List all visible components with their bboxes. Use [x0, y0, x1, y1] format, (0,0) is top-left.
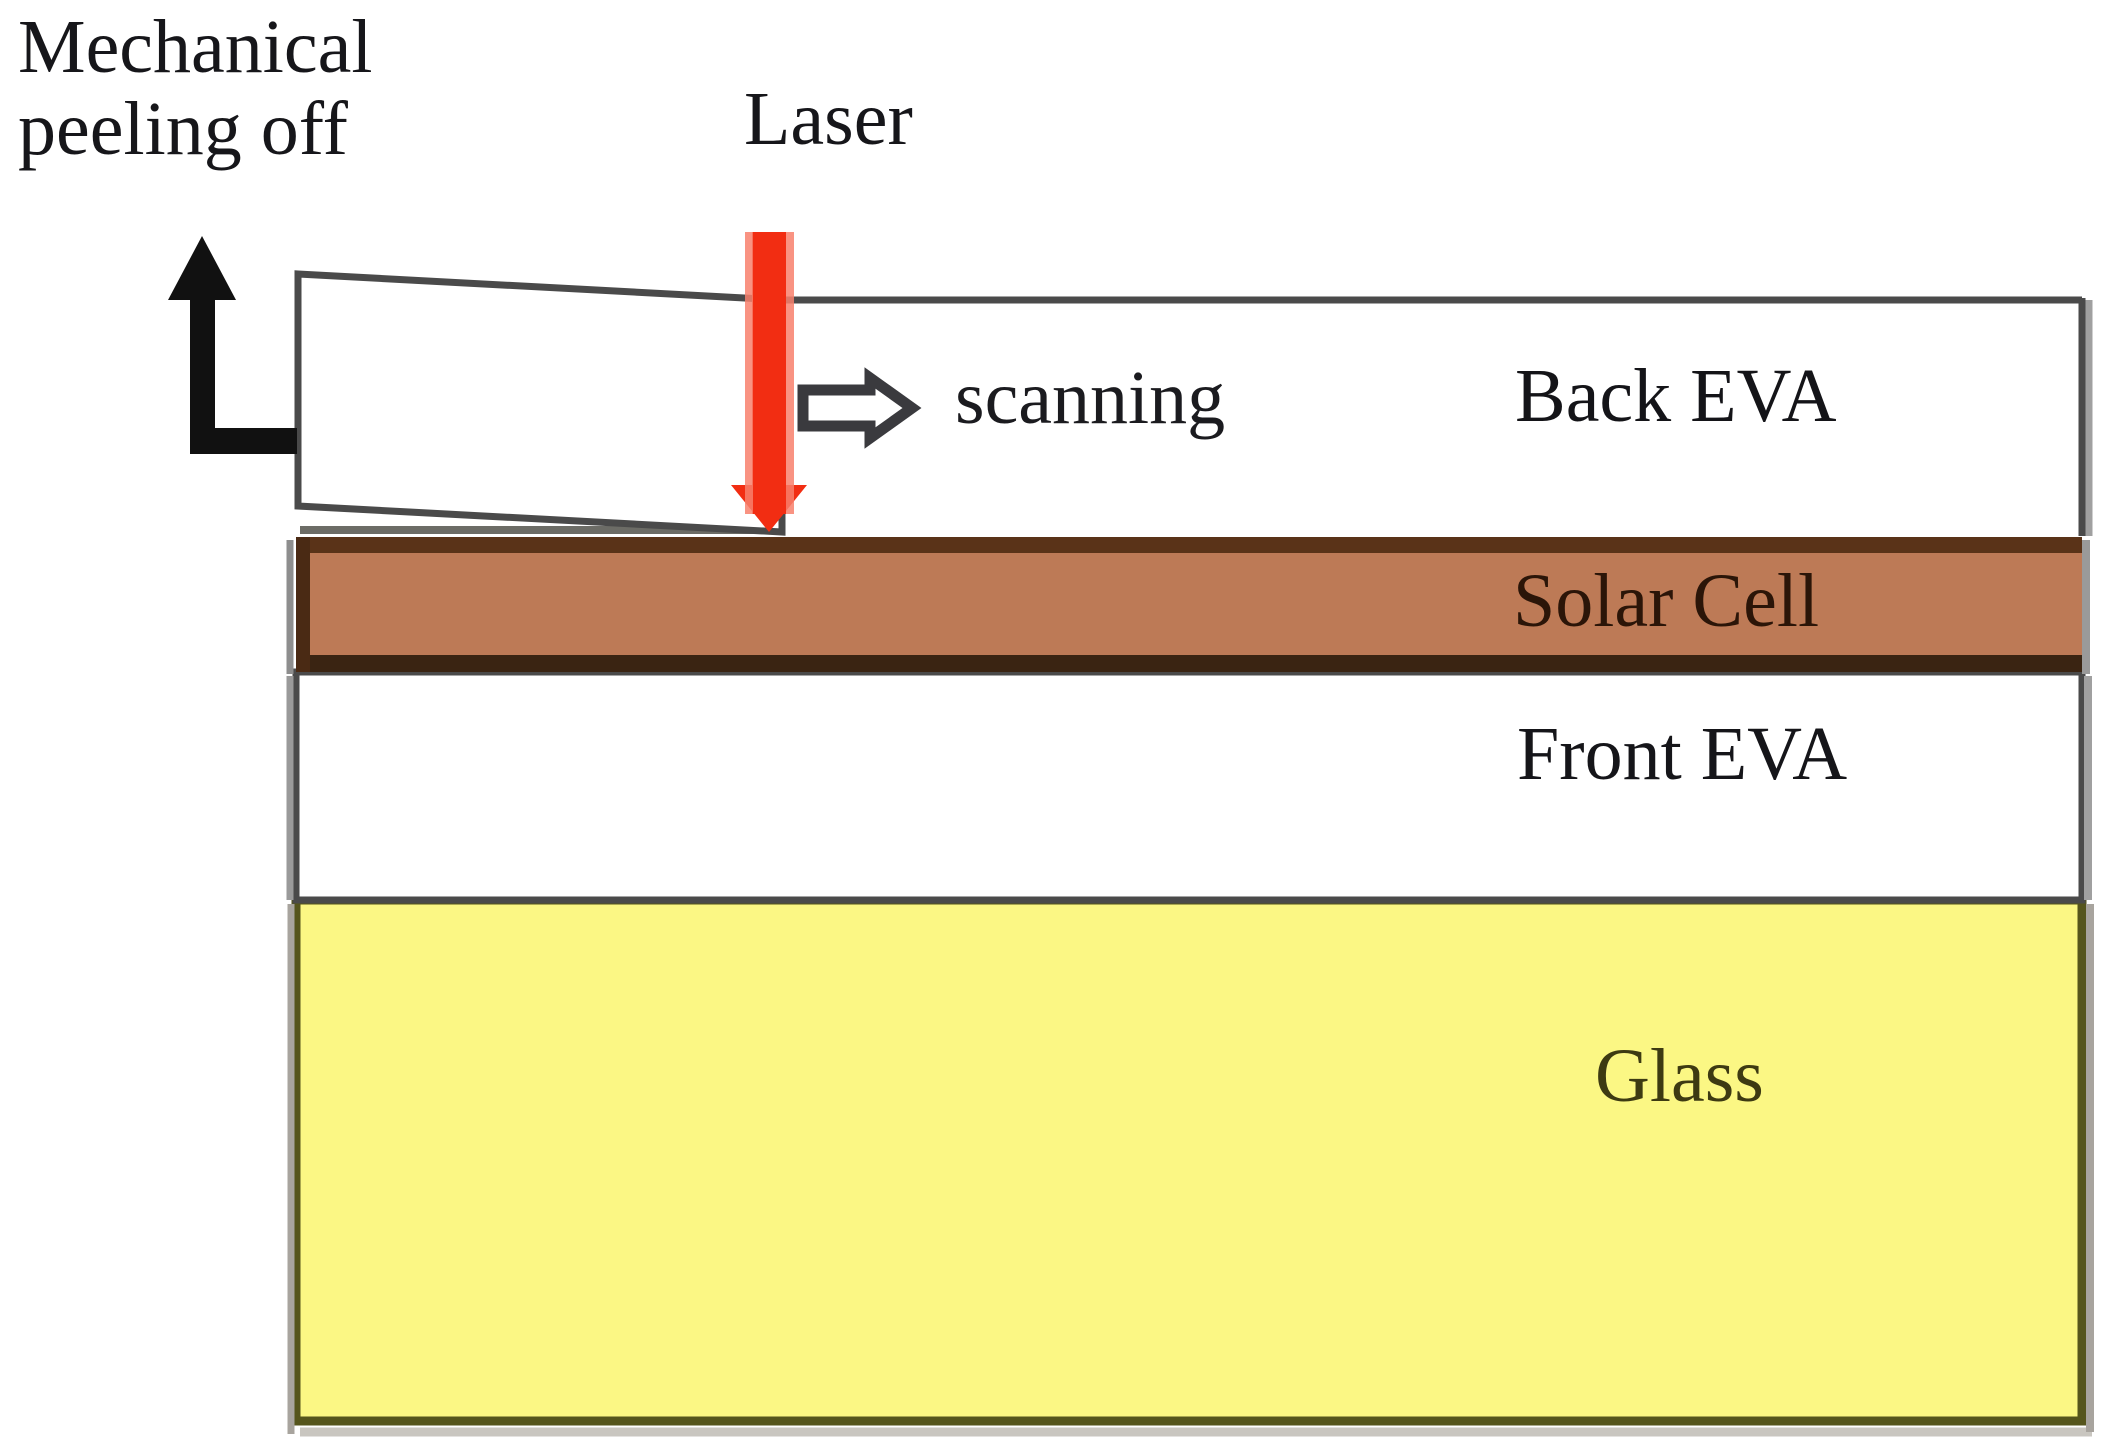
- peeling-arrow-up-icon: [168, 236, 297, 454]
- front-eva-label: Front EVA: [1517, 713, 1847, 795]
- laser-glow-left: [745, 232, 753, 514]
- solar-cell-label: Solar Cell: [1513, 560, 1819, 642]
- mechanical-peeling-line2: peeling off: [18, 87, 348, 171]
- solar-cell-left-edge: [296, 537, 310, 672]
- solar-cell-top-edge: [296, 537, 2082, 553]
- glass-label: Glass: [1595, 1035, 1764, 1117]
- layer-glass: [291, 900, 2092, 1434]
- scanning-label: scanning: [955, 357, 1225, 439]
- solar-cell-bottom-edge: [296, 655, 2082, 672]
- back-eva-label: Back EVA: [1515, 355, 1837, 437]
- peeling-arrow-foot: [190, 428, 297, 454]
- figure-canvas: Mechanicalpeeling off Laser scanning Bac…: [0, 0, 2114, 1448]
- glass-rect: [296, 900, 2082, 1421]
- laser-label: Laser: [744, 78, 913, 160]
- peeling-arrow-head: [168, 236, 236, 300]
- mechanical-peeling-line1: Mechanical: [18, 5, 372, 89]
- mechanical-peeling-label: Mechanicalpeeling off: [18, 6, 372, 170]
- laser-glow-right: [786, 232, 794, 514]
- peeled-flap-shape: [298, 274, 782, 532]
- peeled-back-eva-flap: [298, 274, 782, 532]
- laser-arrow-shaft: [752, 232, 786, 514]
